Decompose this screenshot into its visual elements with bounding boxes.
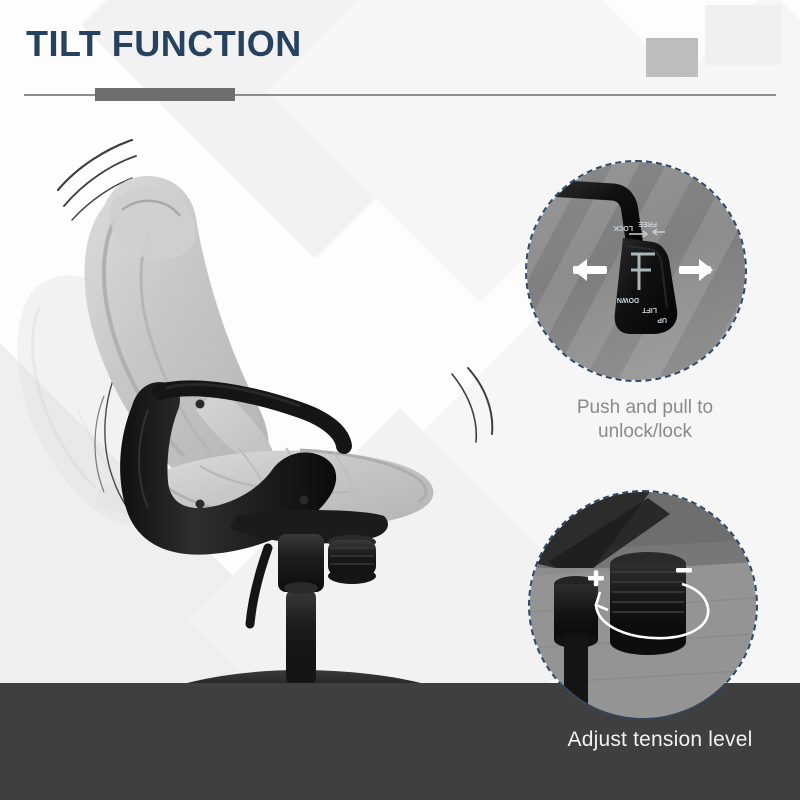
knob-vector <box>530 492 756 718</box>
tilt-lever-handle <box>250 548 268 624</box>
arrow-left-icon <box>573 259 607 281</box>
page-title: TILT FUNCTION <box>26 26 302 62</box>
office-chair-image <box>0 110 520 720</box>
decor-square-mid <box>646 38 698 77</box>
caption-1-line-1: Push and pull to <box>520 396 770 420</box>
tension-caption: Adjust tension level <box>520 728 800 752</box>
minus-symbol <box>676 568 692 573</box>
chair-vector <box>0 110 520 720</box>
decor-square-light <box>705 5 781 65</box>
svg-text:LOCK: LOCK <box>613 224 633 231</box>
arrow-right-icon <box>679 259 713 281</box>
callout-tension-knob-photo <box>530 492 756 718</box>
svg-text:DOWN: DOWN <box>617 296 639 303</box>
svg-text:UP: UP <box>657 316 667 323</box>
caption-1-line-2: unlock/lock <box>520 420 770 444</box>
callout-caption-1: Push and pull to unlock/lock <box>520 396 770 444</box>
header-divider-block <box>95 88 235 101</box>
callout-tilt-lever-photo: LOCK FREE DOWN LIFT UP <box>527 162 745 380</box>
lever-shaft <box>549 188 635 246</box>
tilt-motion-arcs-right <box>452 368 492 442</box>
chair-gas-lift <box>230 510 388 684</box>
svg-text:FREE: FREE <box>638 220 657 227</box>
infographic-canvas: TILT FUNCTION <box>0 0 800 800</box>
lever-vector: LOCK FREE DOWN LIFT UP <box>527 162 745 380</box>
tension-knob <box>328 535 376 584</box>
tension-knob-main <box>610 552 686 655</box>
svg-text:LIFT: LIFT <box>642 306 657 313</box>
